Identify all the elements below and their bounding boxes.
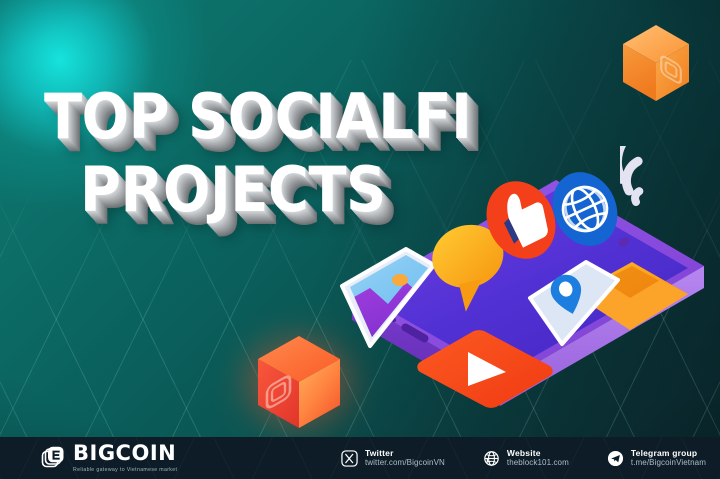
link-title: Website xyxy=(507,448,569,459)
footer-bar: BIGCOIN Reliable gateway to Vietnamese m… xyxy=(0,437,720,479)
wifi-signal-icon xyxy=(620,146,688,212)
footer-link-telegram[interactable]: Telegram group t.me/BigcoinVietnam xyxy=(607,448,706,469)
link-value: twitter.com/BigcoinVN xyxy=(365,458,445,468)
footer-link-website[interactable]: Website theblock101.com xyxy=(483,448,569,469)
x-twitter-icon xyxy=(341,450,358,467)
link-title: Telegram group xyxy=(631,448,706,459)
title-line-2: PROJECTS xyxy=(80,161,475,218)
link-title: Twitter xyxy=(365,448,445,459)
telegram-icon xyxy=(607,450,624,467)
link-value: t.me/BigcoinVietnam xyxy=(631,458,706,468)
globe-website-icon xyxy=(483,450,500,467)
brand-tagline: Reliable gateway to Vietnamese market xyxy=(73,467,177,473)
brand-logo-group[interactable]: BIGCOIN Reliable gateway to Vietnamese m… xyxy=(40,443,177,473)
link-value: theblock101.com xyxy=(507,458,569,468)
footer-links: Twitter twitter.com/BigcoinVN Website th… xyxy=(341,448,706,469)
poster-canvas: TOP SOCIALFI PROJECTS xyxy=(0,0,720,479)
brand-name: BIGCOIN xyxy=(73,443,177,464)
play-button-icon xyxy=(410,308,560,418)
footer-link-twitter[interactable]: Twitter twitter.com/BigcoinVN xyxy=(341,448,445,469)
page-title: TOP SOCIALFI PROJECTS xyxy=(44,88,519,218)
orange-logo-cube xyxy=(612,22,700,104)
title-line-1: TOP SOCIALFI xyxy=(44,88,471,145)
globe-icon xyxy=(543,163,627,255)
bigcoin-logo-icon xyxy=(40,445,66,471)
